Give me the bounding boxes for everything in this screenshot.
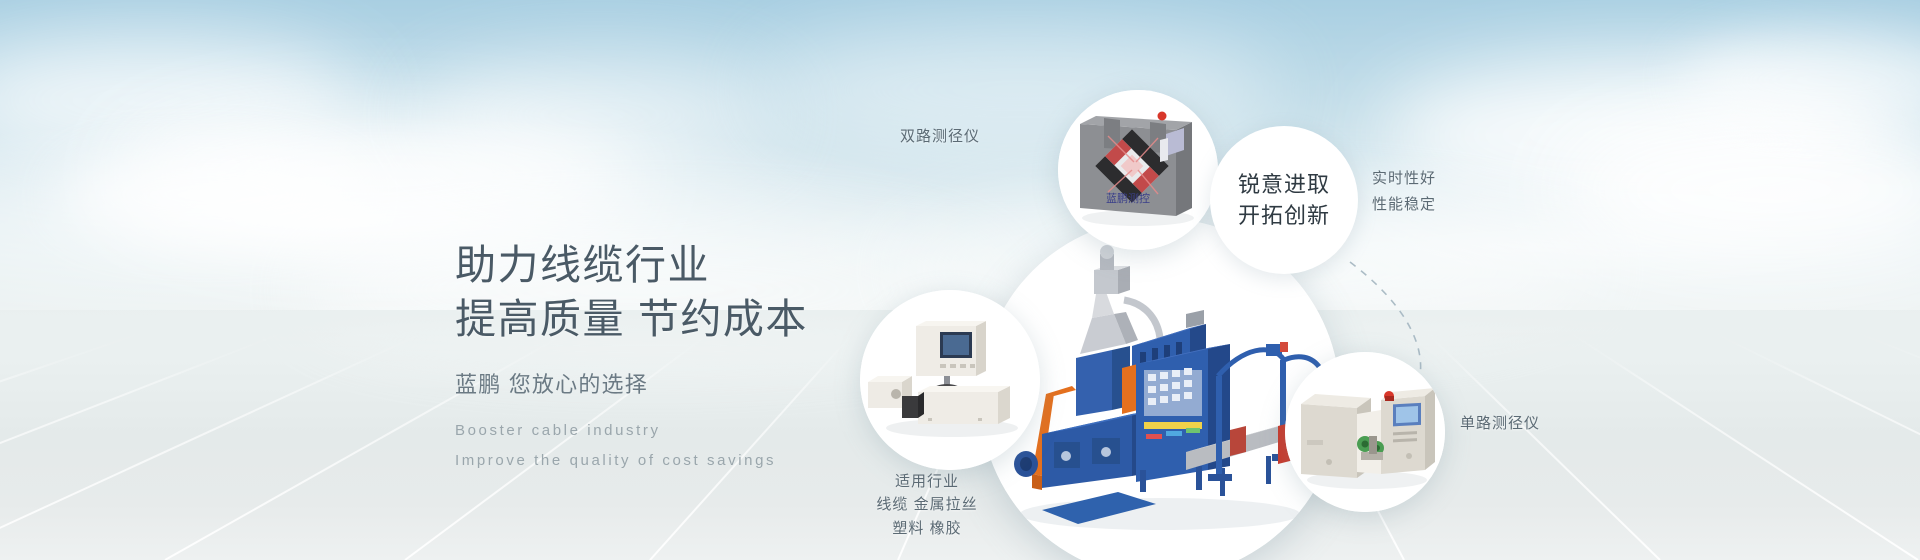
label-dual-gauge: 双路测径仪 [900, 125, 980, 148]
product-composition: 蓝鹏测控 [880, 0, 1920, 560]
cloud-shape [120, 110, 640, 240]
english-tagline: Booster cable industry Improve the quali… [455, 416, 808, 476]
label-industry-title: 适用行业 [832, 470, 1022, 493]
label-performance-line-1: 实时性好 [1372, 166, 1436, 192]
bubble-measuring-console [860, 290, 1040, 470]
hero-banner: 助力线缆行业 提高质量 节约成本 蓝鹏 您放心的选择 Booster cable… [0, 0, 1920, 560]
headline-line-1: 助力线缆行业 [455, 238, 808, 292]
dual-gauge-artwork: 蓝鹏测控 [1058, 90, 1218, 250]
label-industry-line-2: 塑料 橡胶 [832, 517, 1022, 540]
slogan-line-1: 锐意进取 [1238, 169, 1330, 200]
cloud-shape [0, 40, 360, 160]
subheadline: 蓝鹏 您放心的选择 [455, 367, 808, 399]
bubble-single-gauge [1285, 352, 1445, 512]
cloud-shape [60, 150, 360, 240]
hero-copy: 助力线缆行业 提高质量 节约成本 蓝鹏 您放心的选择 Booster cable… [455, 238, 808, 476]
cloud-shape [420, 60, 780, 170]
label-single-gauge: 单路测径仪 [1460, 412, 1540, 435]
label-performance-line-2: 性能稳定 [1372, 192, 1436, 218]
console-artwork [860, 290, 1040, 470]
slogan-line-2: 开拓创新 [1238, 200, 1330, 231]
bubble-slogan: 锐意进取 开拓创新 [1210, 126, 1358, 274]
label-industry-line-1: 线缆 金属拉丝 [832, 493, 1022, 516]
label-performance-block: 实时性好 性能稳定 [1372, 166, 1436, 217]
device-brand-mark: 蓝鹏测控 [1106, 191, 1150, 205]
label-industry-block: 适用行业 线缆 金属拉丝 塑料 橡胶 [832, 470, 1022, 540]
slogan-text: 锐意进取 开拓创新 [1238, 169, 1330, 231]
headline-line-2: 提高质量 节约成本 [455, 292, 808, 346]
single-gauge-artwork [1285, 352, 1445, 512]
english-line-2: Improve the quality of cost savings [455, 446, 808, 476]
bubble-dual-gauge: 蓝鹏测控 [1058, 90, 1218, 250]
english-line-1: Booster cable industry [455, 416, 808, 446]
